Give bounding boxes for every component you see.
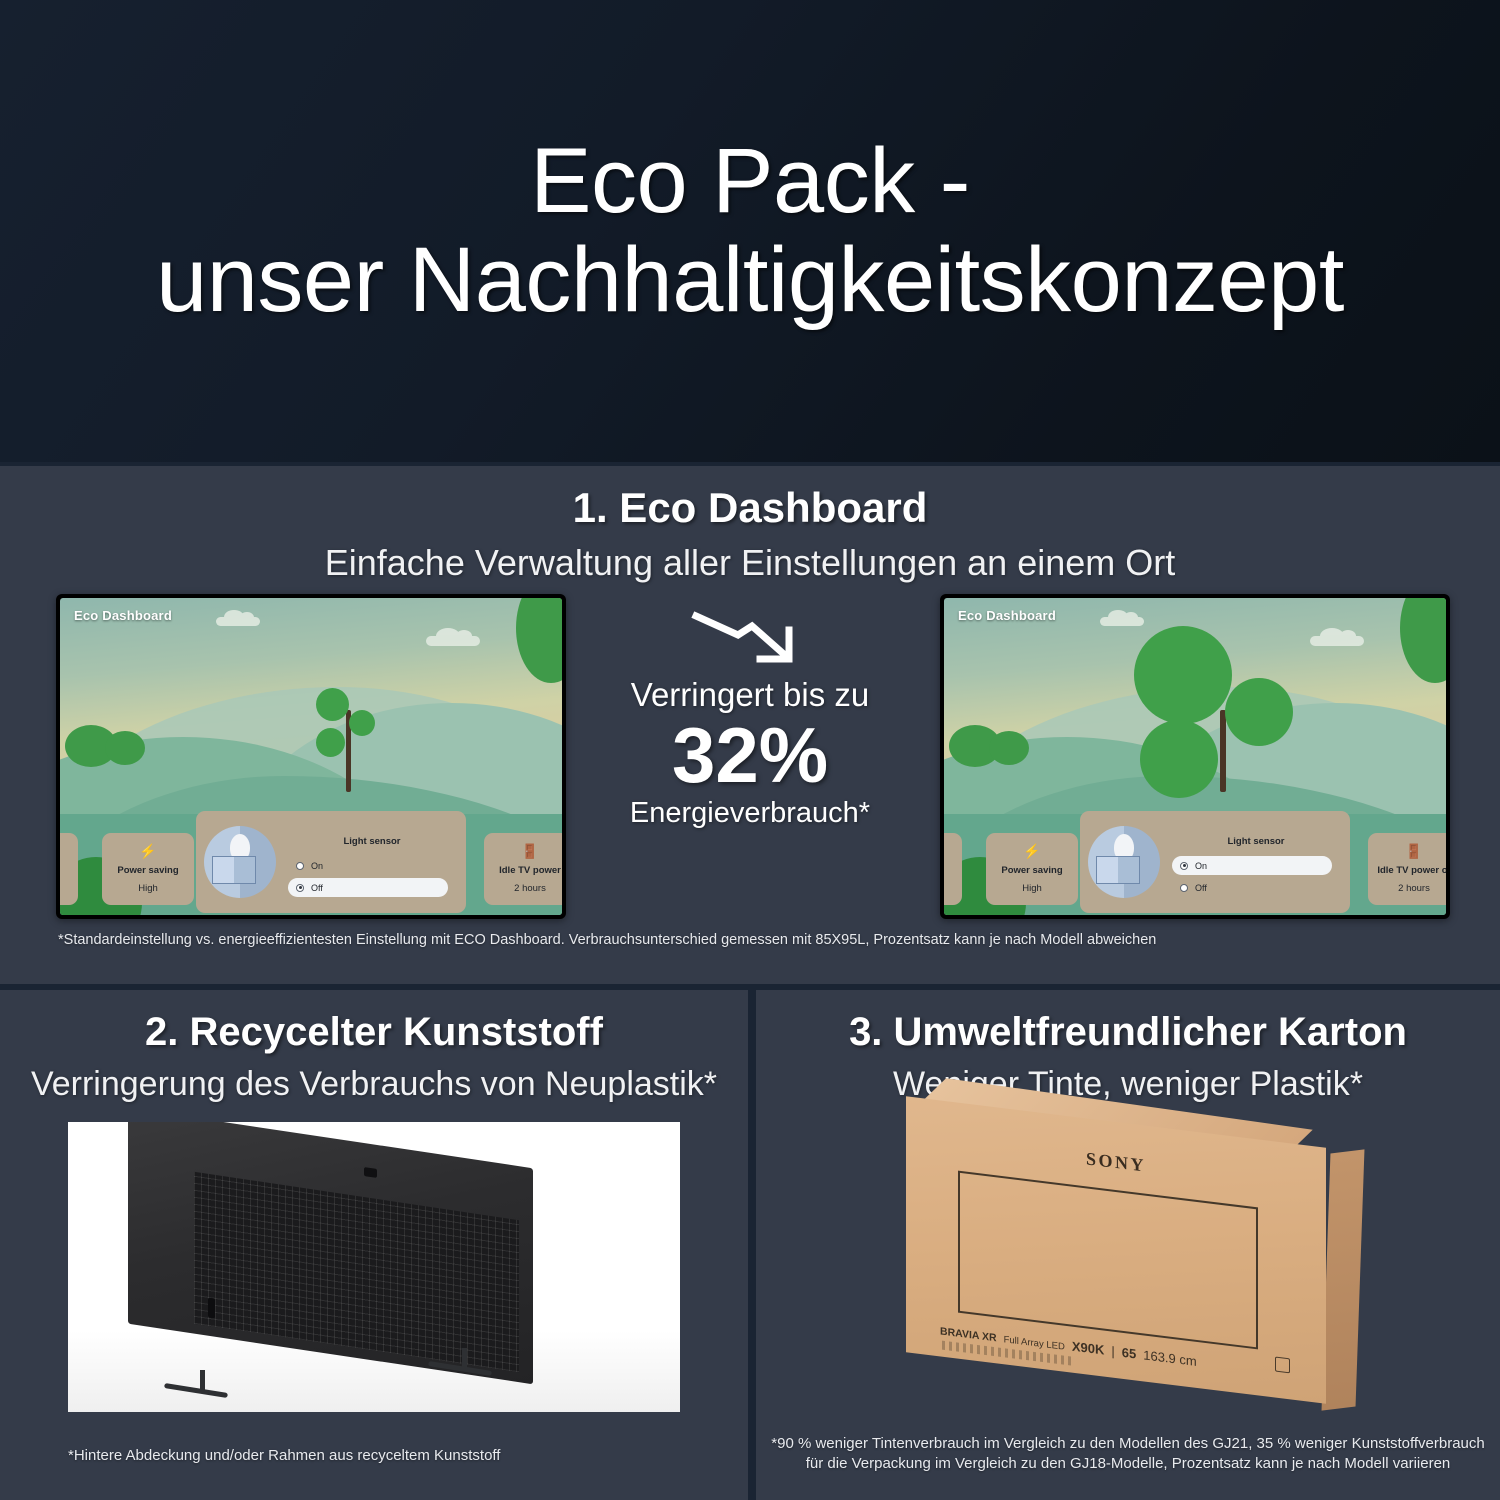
card-partial-right xyxy=(944,833,962,905)
tree-leaf-icon xyxy=(316,728,345,757)
bulb-screen-icon xyxy=(1088,826,1160,898)
light-sensor-option-on[interactable]: On xyxy=(288,856,456,875)
power-saving-label: Power saving xyxy=(1001,865,1062,876)
idle-tv-power-label: Idle TV power xyxy=(499,865,561,876)
card-power-saving-right[interactable]: ⚡ Power saving High xyxy=(986,833,1078,905)
carton-side-face xyxy=(1322,1149,1365,1410)
tv-screenshot-after: Eco Dashboard ⚡ Power saving High xyxy=(940,594,1450,919)
callout-percentage: 32% xyxy=(580,714,920,797)
section3-footnote-line-1: *90 % weniger Tintenverbrauch im Verglei… xyxy=(756,1434,1500,1454)
callout-bottom-text: Energieverbrauch* xyxy=(580,797,920,830)
power-saving-value: High xyxy=(138,883,158,894)
section1-heading: 1. Eco Dashboard xyxy=(0,484,1500,532)
tv-off-icon: 🚪 xyxy=(1405,844,1422,858)
arrow-down-right-trend-icon xyxy=(690,608,810,670)
radio-icon-selected xyxy=(296,884,304,892)
tv-off-icon: 🚪 xyxy=(521,844,538,858)
carton-size-cm: 163.9 cm xyxy=(1143,1347,1196,1369)
hero-title-line-1: Eco Pack - xyxy=(530,130,970,232)
power-leaf-icon: ⚡ xyxy=(139,844,156,858)
section3-footnote-line-2: für die Verpackung im Vergleich zu den G… xyxy=(756,1454,1500,1474)
light-sensor-label: Light sensor xyxy=(1172,836,1340,847)
card-idle-tv-power-right[interactable]: 🚪 Idle TV power of 2 hours xyxy=(1368,833,1446,905)
card-power-saving-left[interactable]: ⚡ Power saving High xyxy=(102,833,194,905)
section2-heading: 2. Recycelter Kunststoff xyxy=(0,1010,748,1055)
page-title: Eco Pack - unser Nachhaltigkeitskonzept xyxy=(156,132,1344,331)
tv-sensor-icon xyxy=(364,1167,377,1178)
section1-footnote: *Standardeinstellung vs. energieeffizien… xyxy=(58,932,1156,948)
card-light-sensor-left[interactable]: Light sensor On Off xyxy=(196,811,466,913)
card-idle-tv-power-left[interactable]: 🚪 Idle TV power 2 hours xyxy=(484,833,562,905)
card-partial-left xyxy=(60,833,78,905)
bulb-screen-icon xyxy=(204,826,276,898)
option-label: On xyxy=(311,861,323,871)
carton-illustration: SONY BRAVIA XR Full Array LED X90K | 65 … xyxy=(816,1110,1456,1440)
tv-outline-print xyxy=(958,1171,1258,1350)
section-eco-carton: 3. Umweltfreundlicher Karton Weniger Tin… xyxy=(756,990,1500,1500)
cloud-icon xyxy=(216,617,260,626)
section3-footnote: *90 % weniger Tintenverbrauch im Verglei… xyxy=(756,1434,1500,1475)
tree-trunk-icon xyxy=(1220,710,1226,792)
power-leaf-icon: ⚡ xyxy=(1023,844,1040,858)
tv-port-icon xyxy=(208,1297,215,1318)
section-recycled-plastic: 2. Recycelter Kunststoff Verringerung de… xyxy=(0,990,748,1500)
carton-size-inch: 65 xyxy=(1122,1345,1136,1362)
carton-badge-icon xyxy=(1275,1357,1290,1374)
light-sensor-option-on[interactable]: On xyxy=(1172,856,1332,875)
section1-subheading: Einfache Verwaltung aller Einstellungen … xyxy=(0,542,1500,584)
light-sensor-option-off[interactable]: Off xyxy=(288,878,448,897)
tv-rear-panel-photo xyxy=(68,1122,680,1412)
hero-banner: Eco Pack - unser Nachhaltigkeitskonzept xyxy=(0,0,1500,462)
cloud-icon xyxy=(1310,636,1364,646)
light-sensor-label: Light sensor xyxy=(288,836,456,847)
section2-footnote: *Hintere Abdeckung und/oder Rahmen aus r… xyxy=(68,1447,500,1464)
section-divider-vertical xyxy=(748,986,756,1500)
idle-tv-power-label: Idle TV power of xyxy=(1377,865,1446,876)
tv-stand-leg xyxy=(164,1383,228,1398)
cloud-icon xyxy=(426,636,480,646)
screen-title-left: Eco Dashboard xyxy=(74,608,172,623)
tree-leaf-icon xyxy=(349,710,375,736)
carton-front-face: SONY BRAVIA XR Full Array LED X90K | 65 … xyxy=(906,1096,1326,1404)
power-saving-value: High xyxy=(1022,883,1042,894)
carton-model: X90K xyxy=(1072,1339,1105,1358)
tree-leaf-icon xyxy=(316,688,349,721)
tv-screenshot-before: Eco Dashboard ⚡ Power saving High xyxy=(56,594,566,919)
option-label: Off xyxy=(1195,883,1207,893)
section3-heading: 3. Umweltfreundlicher Karton xyxy=(756,1010,1500,1055)
callout-top-text: Verringert bis zu xyxy=(580,676,920,714)
section2-subheading: Verringerung des Verbrauchs von Neuplast… xyxy=(0,1065,748,1104)
card-light-sensor-right[interactable]: Light sensor On Off xyxy=(1080,811,1350,913)
section-eco-dashboard: 1. Eco Dashboard Einfache Verwaltung all… xyxy=(0,466,1500,986)
power-saving-label: Power saving xyxy=(117,865,178,876)
option-label: Off xyxy=(311,883,323,893)
light-sensor-option-off[interactable]: Off xyxy=(1172,878,1340,897)
idle-tv-power-value: 2 hours xyxy=(514,883,546,894)
tree-leaf-icon xyxy=(1134,626,1232,724)
radio-icon-selected xyxy=(1180,862,1188,870)
carton-separator: | xyxy=(1111,1343,1114,1358)
section3-subheading: Weniger Tinte, weniger Plastik* xyxy=(756,1065,1500,1104)
option-label: On xyxy=(1195,861,1207,871)
idle-tv-power-value: 2 hours xyxy=(1398,883,1430,894)
tree-leaf-icon xyxy=(1140,720,1218,798)
eco-pack-infographic: Eco Pack - unser Nachhaltigkeitskonzept … xyxy=(0,0,1500,1500)
dashboard-comparison-row: Eco Dashboard ⚡ Power saving High xyxy=(0,594,1500,924)
energy-reduction-callout: Verringert bis zu 32% Energieverbrauch* xyxy=(580,608,920,830)
radio-icon xyxy=(296,862,304,870)
cloud-icon xyxy=(1100,617,1144,626)
sony-logo: SONY xyxy=(1086,1148,1146,1176)
screen-title-right: Eco Dashboard xyxy=(958,608,1056,623)
tree-leaf-icon xyxy=(1225,678,1293,746)
radio-icon xyxy=(1180,884,1188,892)
hero-title-line-2: unser Nachhaltigkeitskonzept xyxy=(156,229,1344,331)
